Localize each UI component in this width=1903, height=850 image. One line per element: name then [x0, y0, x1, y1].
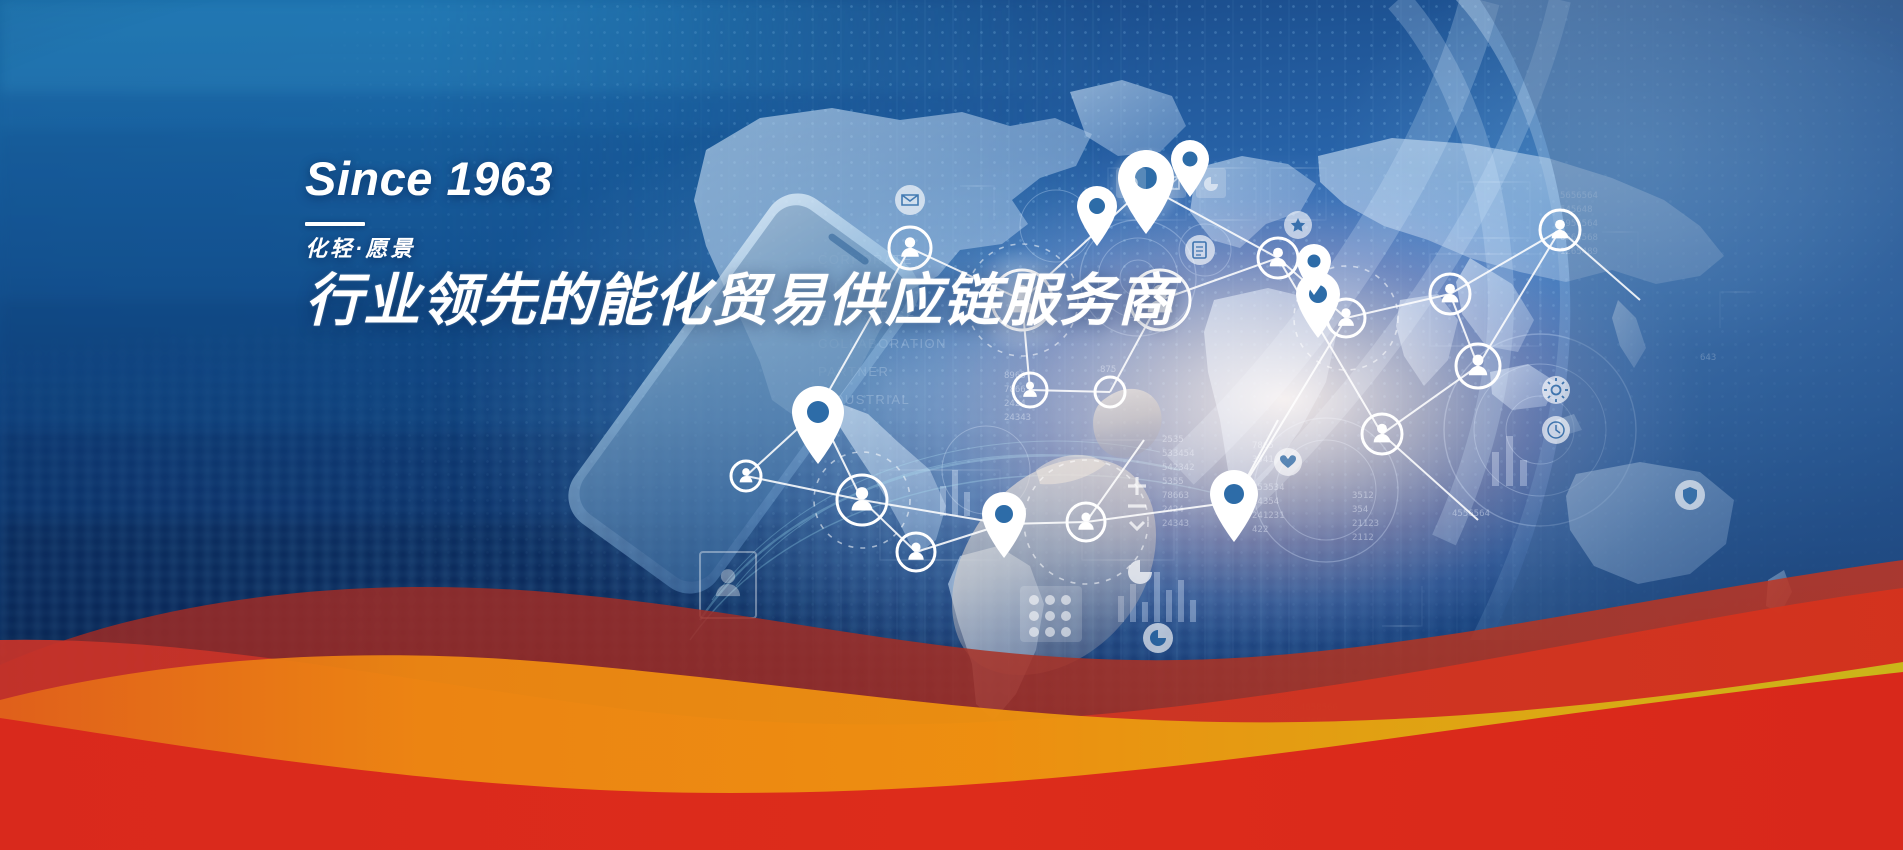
brand-slogan: 化轻·愿景 [305, 238, 1175, 260]
hero-headline: 行业领先的能化贸易供应链服务商 [305, 270, 1175, 334]
eyebrow-since-year: Since 1963 [305, 155, 1175, 202]
title-divider-rule [305, 222, 365, 226]
hero-text-block: Since 1963 化轻·愿景 行业领先的能化贸易供应链服务商 [305, 155, 1175, 334]
hero-banner: 2535 533454 542342 5355 78663 2424 24343… [0, 0, 1903, 850]
vignette-overlay [0, 0, 1903, 850]
